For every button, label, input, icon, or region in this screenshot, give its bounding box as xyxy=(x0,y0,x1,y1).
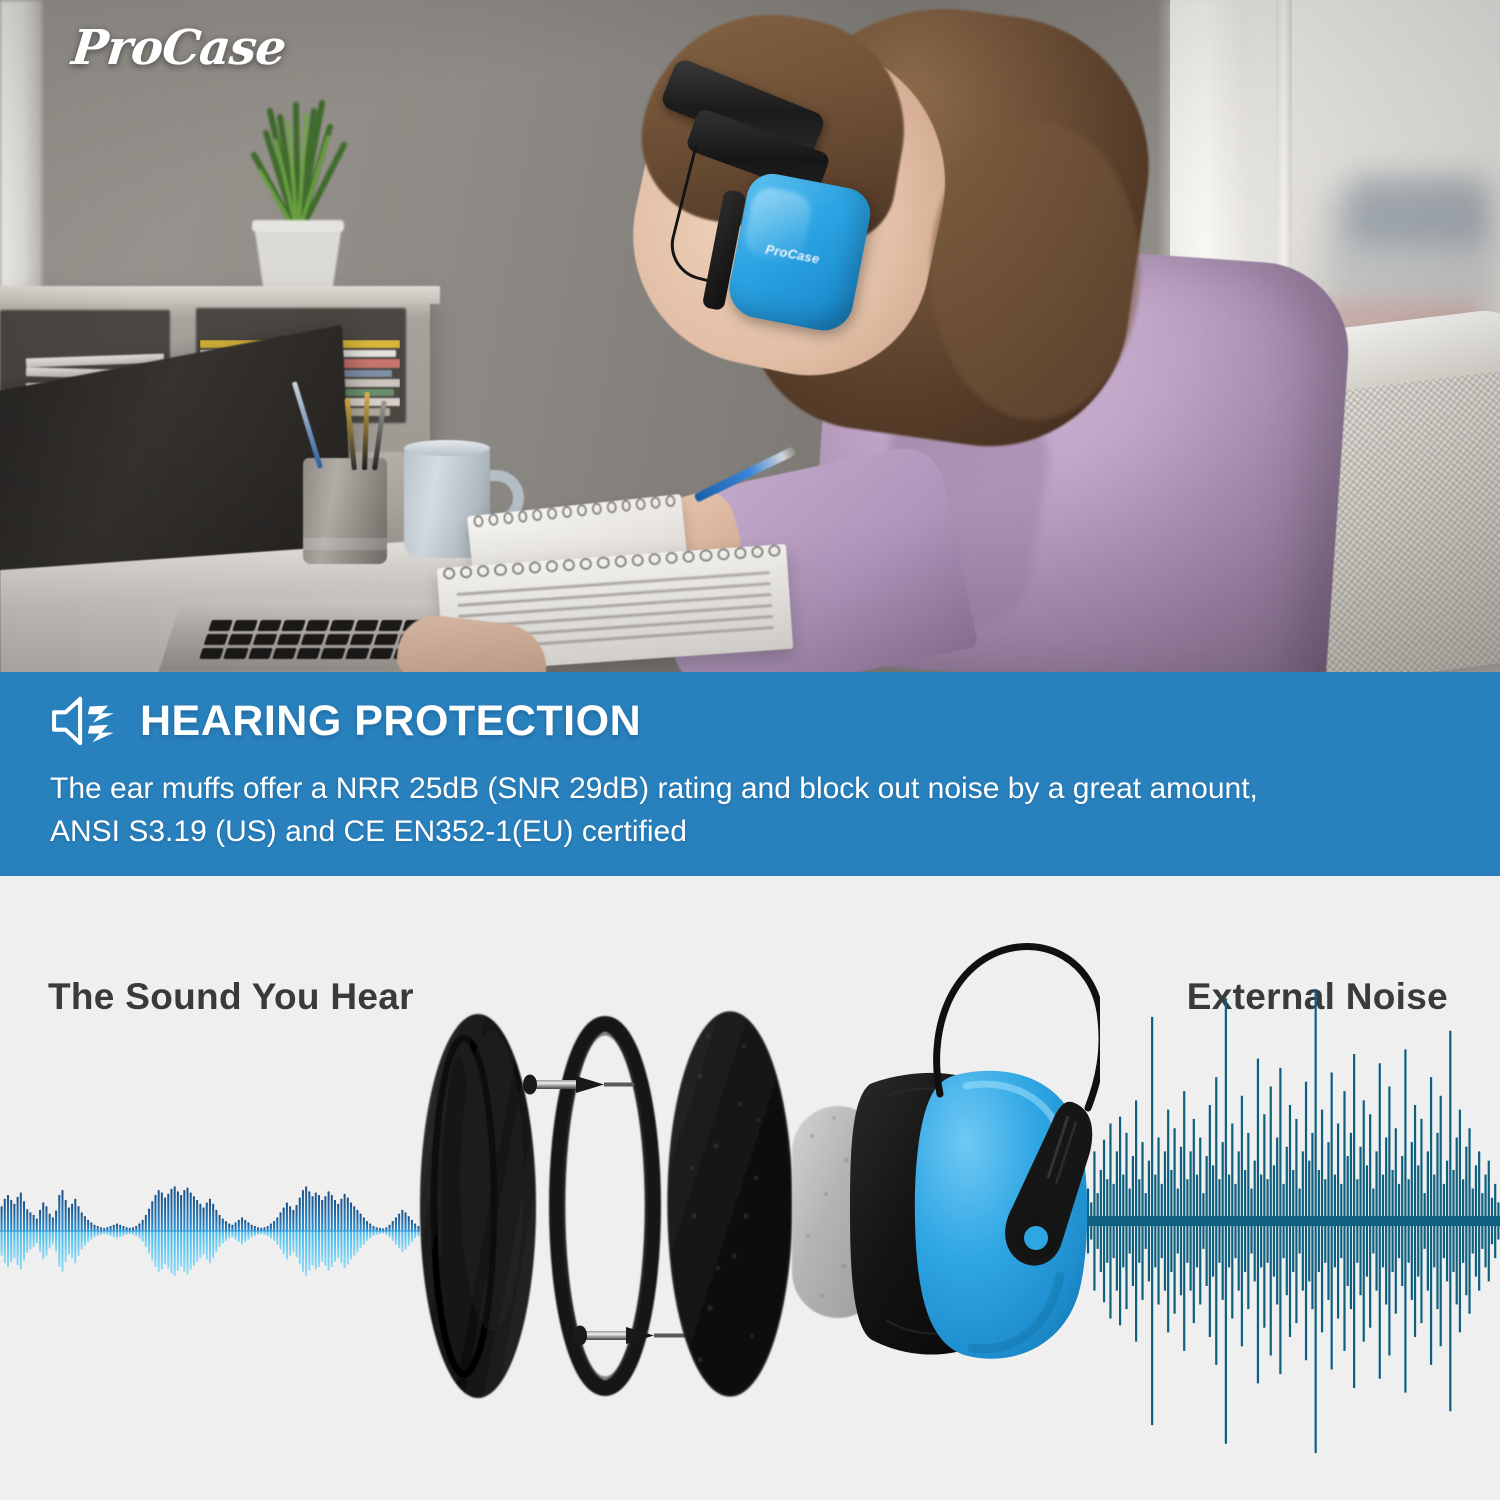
part-ear-cushion-ring xyxy=(420,1014,536,1398)
banner-heading-row: HEARING PROTECTION xyxy=(48,694,641,748)
banner-title: HEARING PROTECTION xyxy=(140,697,641,746)
banner-body-line-1: The ear muffs offer a NRR 25dB (SNR 29dB… xyxy=(50,768,1450,811)
brand-logo: ProCase xyxy=(69,20,288,76)
part-foam-pad xyxy=(668,1012,792,1396)
banner-body: The ear muffs offer a NRR 25dB (SNR 29dB… xyxy=(50,768,1450,853)
waveform-external-noise xyxy=(1080,976,1500,1466)
label-sound-you-hear: The Sound You Hear xyxy=(48,976,414,1018)
lifestyle-photo: ProCase xyxy=(0,0,1500,672)
part-screw-upper xyxy=(523,1075,634,1095)
product-marketing-image: ProCase ProCase HEARING PROTECTION The e… xyxy=(0,0,1500,1500)
photo-vignette xyxy=(0,0,1500,672)
hearing-protection-banner: HEARING PROTECTION The ear muffs offer a… xyxy=(0,672,1500,876)
waveform-attenuated xyxy=(0,1161,420,1301)
comparison-section: The Sound You Hear External Noise xyxy=(0,876,1500,1500)
part-screw-lower xyxy=(573,1326,686,1346)
banner-body-line-2: ANSI S3.19 (US) and CE EN352-1(EU) certi… xyxy=(50,811,1450,854)
speaker-muted-icon xyxy=(48,694,118,748)
exploded-earmuff-diagram xyxy=(400,916,1100,1496)
